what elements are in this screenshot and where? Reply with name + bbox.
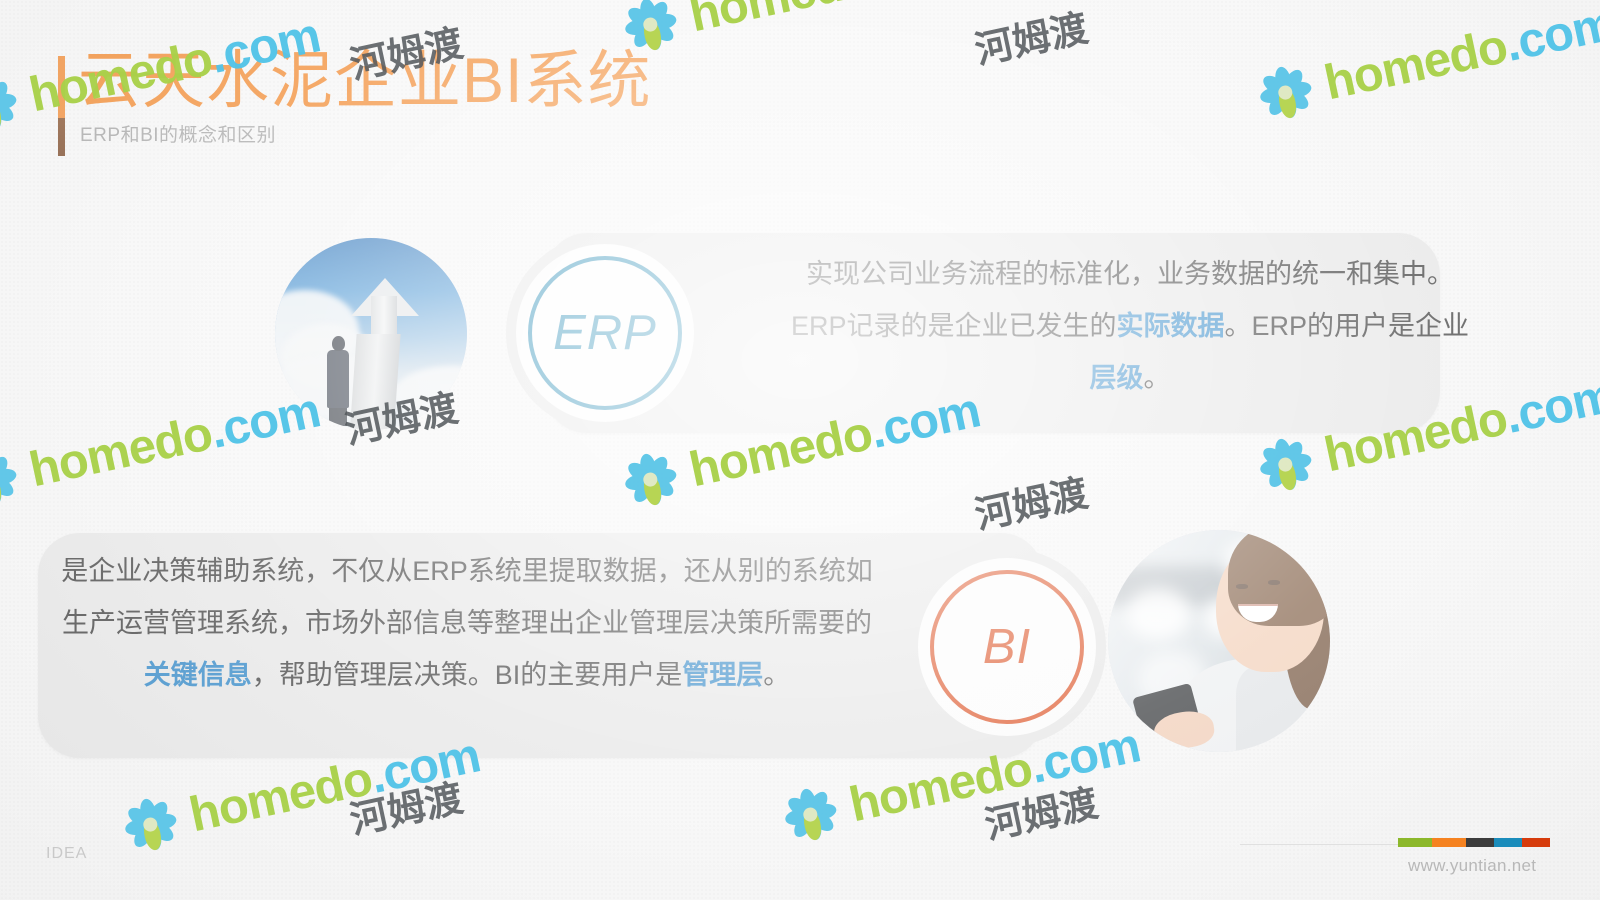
footer-url: www.yuntian.net [1408, 856, 1536, 876]
body-text-run: 。ERP的用户是企业 [1225, 311, 1470, 341]
woman-figure [1268, 580, 1280, 585]
bokeh-light [1126, 588, 1190, 640]
colorbar-segment [1466, 838, 1494, 847]
erp-block: ERP 实现公司业务流程的标准化，业务数据的统一和集中。ERP记录的是企业已发生… [260, 225, 1450, 440]
colorbar-segment [1398, 838, 1432, 847]
homedo-flower-icon [774, 778, 848, 852]
title-accent-bar [58, 56, 65, 156]
page-title: 云天水泥企业BI系统 ERP和BI的概念和区别 [58, 48, 652, 147]
bi-photo [1108, 530, 1330, 752]
erp-body-text: 实现公司业务流程的标准化，业务数据的统一和集中。ERP记录的是企业已发生的实际数… [780, 248, 1480, 404]
body-text-run: 是企业决策辅助系统，不仅从ERP系统里提取数据，还从别的系统如生产运营管理系统，… [61, 556, 873, 638]
homedo-flower-icon [614, 443, 688, 517]
body-text-run: 。 [763, 660, 790, 690]
highlighted-term: 管理层 [682, 660, 763, 690]
highlighted-term: 层级 [1090, 363, 1144, 393]
erp-badge-label: ERP [528, 256, 682, 410]
body-text-run: 。 [1144, 363, 1171, 393]
highlighted-term: 关键信息 [144, 660, 252, 690]
homedo-flower-icon [114, 788, 188, 862]
bi-badge: BI [918, 558, 1096, 736]
homedo-watermark: homedo.com [1249, 0, 1600, 129]
title-text: 云天水泥企业BI系统 [78, 48, 652, 114]
homedo-cn-watermark: 河姆渡 [979, 772, 1102, 850]
footer-colorbar [1398, 838, 1550, 847]
homedo-flower-icon [1249, 56, 1323, 130]
highlighted-term: 实际数据 [1117, 311, 1225, 341]
homedo-flower-icon [0, 443, 27, 517]
homedo-watermark-text: homedo.com [1320, 0, 1600, 111]
homedo-cn-watermark: 河姆渡 [344, 767, 467, 845]
bi-badge-label: BI [930, 570, 1084, 724]
footer-idea-label: IDEA [46, 845, 87, 863]
colorbar-segment [1432, 838, 1466, 847]
erp-badge: ERP [516, 244, 694, 422]
footer-divider [1240, 844, 1400, 845]
colorbar-segment [1494, 838, 1522, 847]
slide-canvas: 云天水泥企业BI系统 ERP和BI的概念和区别 ERP 实现公司业务流程的标准化… [0, 0, 1600, 900]
colorbar-segment [1522, 838, 1550, 847]
bi-body-text: 是企业决策辅助系统，不仅从ERP系统里提取数据，还从别的系统如生产运营管理系统，… [56, 545, 878, 701]
homedo-cn-watermark: 河姆渡 [969, 0, 1092, 74]
homedo-watermark-text: homedo.com [685, 0, 985, 43]
homedo-flower-icon [0, 68, 27, 142]
woman-figure [1236, 584, 1248, 589]
body-text-run: ，帮助管理层决策。BI的主要用户是 [252, 660, 683, 690]
subtitle-text: ERP和BI的概念和区别 [80, 120, 652, 147]
homedo-watermark: homedo.com [614, 0, 986, 61]
